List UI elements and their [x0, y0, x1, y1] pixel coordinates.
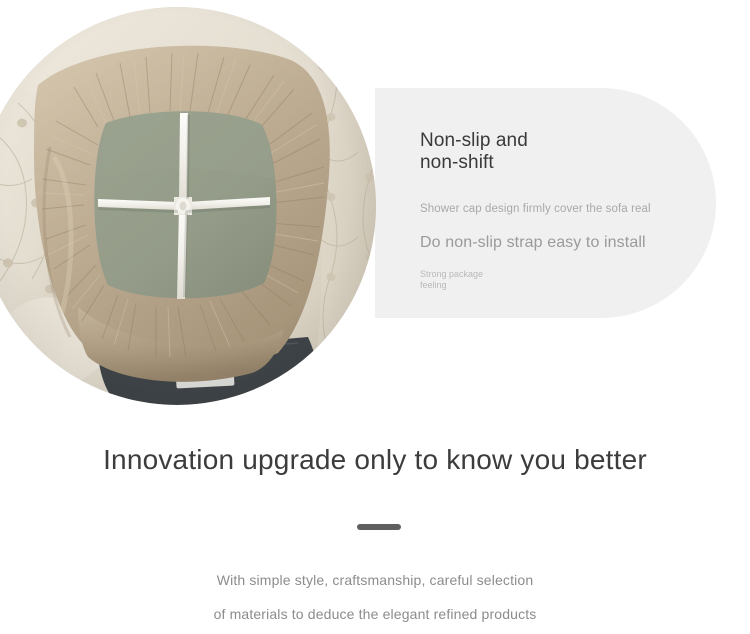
feature-heading: Non-slip and non-shift — [420, 130, 710, 174]
bottom-tagline-section: Innovation upgrade only to know you bett… — [0, 430, 750, 634]
tagline-line-2: of materials to deduce the elegant refin… — [0, 606, 750, 622]
main-headline: Innovation upgrade only to know you bett… — [0, 444, 750, 476]
product-photo-illustration — [0, 7, 376, 405]
divider-dash — [357, 524, 401, 530]
product-photo-circle — [0, 7, 376, 405]
product-feature-banner: Non-slip and non-shift Shower cap design… — [0, 0, 750, 634]
feature-subtitle-strap: Do non-slip strap easy to install — [420, 215, 710, 252]
feature-text-block: Non-slip and non-shift Shower cap design… — [420, 130, 710, 291]
tagline-line-1: With simple style, craftsmanship, carefu… — [0, 572, 750, 588]
top-feature-section: Non-slip and non-shift Shower cap design… — [0, 0, 750, 430]
feature-subtitle-shower-cap: Shower cap design firmly cover the sofa … — [420, 174, 710, 215]
feature-subtitle-package: Strong package feeling — [420, 252, 710, 291]
